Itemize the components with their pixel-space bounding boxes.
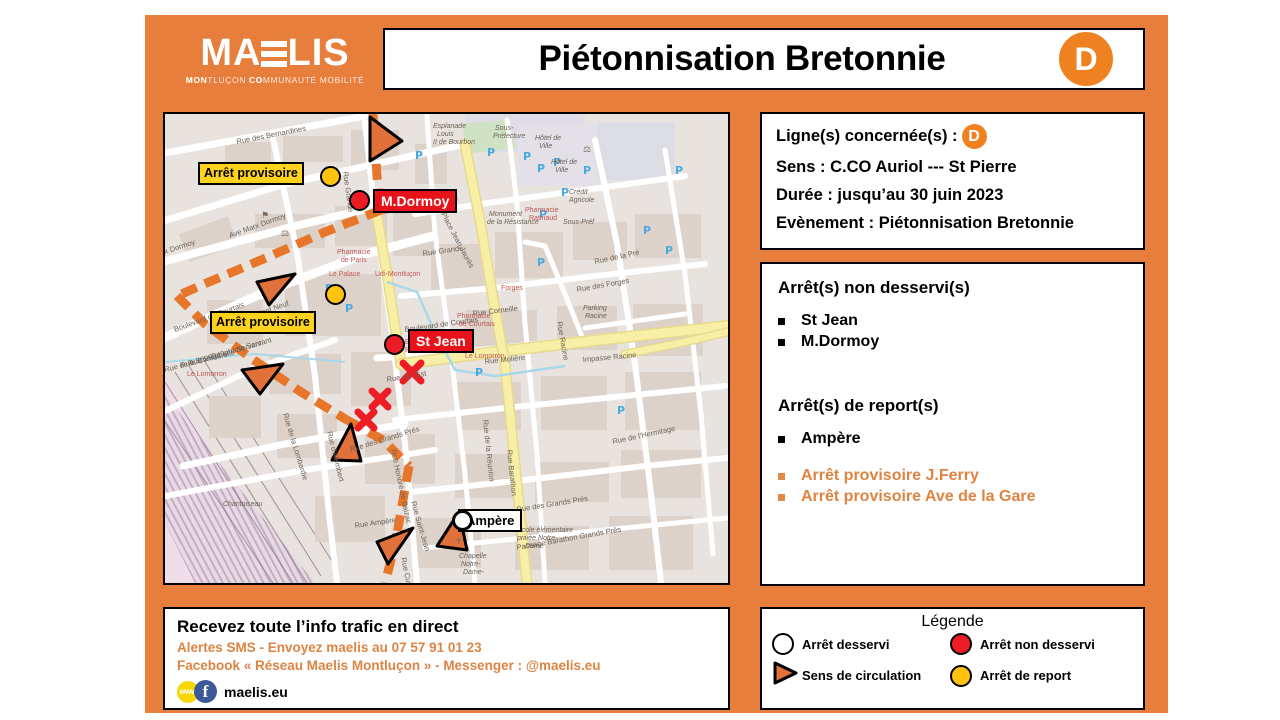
logo-e-glyph	[261, 39, 287, 69]
map-marker-stop-red-dormoy[interactable]	[349, 190, 370, 211]
svg-text:Agricole: Agricole	[568, 197, 594, 204]
map-marker-stop-white-ampere[interactable]	[452, 510, 473, 531]
tagline-co: CO	[249, 75, 263, 85]
svg-text:Chantoiseau: Chantoiseau	[223, 501, 262, 508]
svg-text:Racine: Racine	[585, 313, 607, 320]
legend-title: Légende	[772, 613, 1133, 631]
report-title: Arrêt(s) de report(s)	[778, 396, 1127, 416]
svg-text:Hôtel de: Hôtel de	[551, 159, 577, 166]
map-marker-stop-red-stjean[interactable]	[384, 334, 405, 355]
facebook-icon[interactable]: f	[194, 680, 217, 703]
map-marker-stop-yellow-1[interactable]	[320, 166, 341, 187]
map-label-m-dormoy: M.Dormoy	[373, 189, 457, 213]
map-label-st-jean: St Jean	[408, 329, 474, 353]
info-lines-row: Ligne(s) concernée(s) : D	[776, 124, 1129, 149]
maelis-logo: MALIS MONTLUÇON COMMUNAUTÉ MOBILITÉ	[185, 33, 365, 95]
list-item: Arrêt provisoire J.Ferry	[778, 467, 1127, 485]
tagline-rest: MMUNAUTÉ MOBILITÉ	[263, 75, 364, 85]
circle-white-icon	[772, 633, 794, 655]
legend-grid: Arrêt desservi Arrêt non desservi Sens d…	[772, 633, 1133, 690]
bullet-square-icon	[778, 318, 785, 325]
svg-text:de Courtais: de Courtais	[459, 321, 495, 328]
svg-text:P: P	[643, 224, 651, 237]
svg-text:de Paris: de Paris	[341, 257, 367, 264]
info-duree: Durée : jusqu’au 30 juin 2023	[776, 186, 1129, 205]
svg-text:Pharmacie: Pharmacie	[525, 207, 559, 214]
svg-text:Dame: Dame	[525, 543, 544, 550]
legend-label-arret-report: Arrêt de report	[980, 668, 1133, 683]
map-marker-stop-yellow-2[interactable]	[325, 284, 346, 305]
svg-text:Esplanade: Esplanade	[433, 123, 466, 130]
info-lines-label: Ligne(s) concernée(s) :	[776, 127, 958, 146]
svg-text:P: P	[665, 244, 673, 257]
svg-text:P: P	[537, 162, 545, 175]
logo-wordmark-right: LIS	[287, 32, 349, 74]
contact-box: Recevez toute l’info trafic en direct Al…	[163, 607, 730, 710]
svg-text:Pharmacie: Pharmacie	[337, 249, 371, 256]
svg-text:P: P	[617, 404, 625, 417]
page-title: Piétonnisation Bretonnie	[385, 39, 1059, 79]
svg-text:P: P	[561, 186, 569, 199]
info-line-badge-d: D	[962, 124, 987, 149]
svg-text:Parking: Parking	[583, 305, 607, 312]
website-label[interactable]: maelis.eu	[224, 684, 288, 700]
stop-name: M.Dormoy	[801, 333, 879, 351]
bullet-square-icon	[778, 436, 785, 443]
tagline-tlucon: TLUÇON	[207, 75, 249, 85]
svg-text:Louis: Louis	[437, 131, 454, 138]
stop-name: St Jean	[801, 312, 858, 330]
svg-text:Sous-Préf: Sous-Préf	[563, 219, 595, 226]
svg-text:Monument: Monument	[489, 211, 523, 218]
tagline-mon: MON	[186, 75, 208, 85]
svg-text:P: P	[583, 164, 591, 177]
svg-text:P: P	[675, 164, 683, 177]
spacer	[778, 354, 1127, 396]
map-label-arret-provisoire-2: Arrêt provisoire	[210, 311, 316, 334]
stop-name: Arrêt provisoire Ave de la Gare	[801, 488, 1035, 506]
line-badge-d: D	[1059, 32, 1113, 86]
stops-box: Arrêt(s) non desservi(s) St Jean M.Dormo…	[760, 262, 1145, 586]
svg-text:P: P	[415, 149, 423, 162]
title-box: Piétonnisation Bretonnie D	[383, 28, 1145, 90]
svg-text:P: P	[345, 302, 353, 315]
svg-text:Hôtel de: Hôtel de	[535, 135, 561, 142]
svg-text:Ville: Ville	[555, 167, 568, 174]
svg-text:P: P	[523, 150, 531, 163]
spacer	[778, 451, 1127, 467]
svg-text:⚖: ⚖	[281, 229, 289, 239]
contact-sms: Alertes SMS - Envoyez maelis au 07 57 91…	[177, 639, 716, 657]
circle-yellow-icon	[950, 665, 972, 687]
svg-text:Crédit: Crédit	[569, 189, 589, 196]
contact-title: Recevez toute l’info trafic en direct	[177, 617, 716, 637]
svg-text:Ville: Ville	[539, 143, 552, 150]
circle-red-icon	[950, 633, 972, 655]
logo-wordmark-left: MA	[200, 32, 261, 74]
list-item: Arrêt provisoire Ave de la Gare	[778, 488, 1127, 506]
map-label-arret-provisoire-1: Arrêt provisoire	[198, 162, 304, 185]
bullet-square-icon	[778, 339, 785, 346]
svg-text:Le Palace: Le Palace	[329, 271, 360, 278]
stop-name: Ampère	[801, 430, 861, 448]
svg-text:Sous-: Sous-	[495, 125, 514, 132]
svg-text:P: P	[487, 146, 495, 159]
logo-tagline: MONTLUÇON COMMUNAUTÉ MOBILITÉ	[185, 75, 365, 85]
logo-wordmark: MALIS	[185, 33, 365, 73]
info-sens: Sens : C.CO Auriol --- St Pierre	[776, 158, 1129, 177]
svg-text:✝: ✝	[455, 537, 463, 547]
bullet-square-icon	[778, 494, 785, 501]
svg-text:Dame-: Dame-	[463, 569, 485, 576]
svg-text:Le Lomorron: Le Lomorron	[187, 371, 227, 378]
svg-text:P: P	[475, 366, 483, 379]
map-view[interactable]: PP PP PP PP PP PP PP PP P ⚖⚑ ✝✝ ⚖ Rue de…	[163, 112, 730, 585]
list-item: Ampère	[778, 430, 1127, 448]
svg-text:Le Lomorron: Le Lomorron	[465, 353, 505, 360]
legend-label-arret-desservi: Arrêt desservi	[802, 637, 950, 652]
list-item: M.Dormoy	[778, 333, 1127, 351]
svg-text:privée Notre-: privée Notre-	[516, 535, 558, 542]
svg-text:Forges: Forges	[501, 285, 523, 292]
bullet-square-icon	[778, 473, 785, 480]
list-item: St Jean	[778, 312, 1127, 330]
legend-box: Légende Arrêt desservi Arrêt non desserv…	[760, 607, 1145, 710]
svg-text:Préfecture: Préfecture	[493, 133, 525, 140]
svg-text:Ratinaud: Ratinaud	[529, 215, 557, 222]
social-row: www f maelis.eu	[177, 680, 716, 703]
svg-text:II de Bourbon: II de Bourbon	[433, 139, 475, 146]
info-evenement: Evènement : Piétonnisation Bretonnie	[776, 214, 1129, 233]
svg-text:P: P	[537, 256, 545, 269]
svg-text:Chapelle: Chapelle	[459, 553, 487, 560]
svg-text:⚖: ⚖	[583, 145, 591, 155]
contact-facebook: Facebook « Réseau Maelis Montluçon » - M…	[177, 657, 716, 675]
svg-text:Pharmacie: Pharmacie	[457, 313, 491, 320]
poster-panel: MALIS MONTLUÇON COMMUNAUTÉ MOBILITÉ Piét…	[145, 15, 1168, 713]
legend-label-arret-non-desservi: Arrêt non desservi	[980, 637, 1133, 652]
triangle-icon	[772, 661, 802, 690]
svg-text:École élémentaire: École élémentaire	[517, 525, 573, 534]
svg-text:Udi-Montluçon: Udi-Montluçon	[375, 271, 420, 278]
legend-label-sens-circulation: Sens de circulation	[802, 668, 950, 683]
non-desservis-title: Arrêt(s) non desservi(s)	[778, 278, 1127, 298]
info-box: Ligne(s) concernée(s) : D Sens : C.CO Au…	[760, 112, 1145, 250]
svg-text:Notre-: Notre-	[461, 561, 481, 568]
stop-name: Arrêt provisoire J.Ferry	[801, 467, 979, 485]
